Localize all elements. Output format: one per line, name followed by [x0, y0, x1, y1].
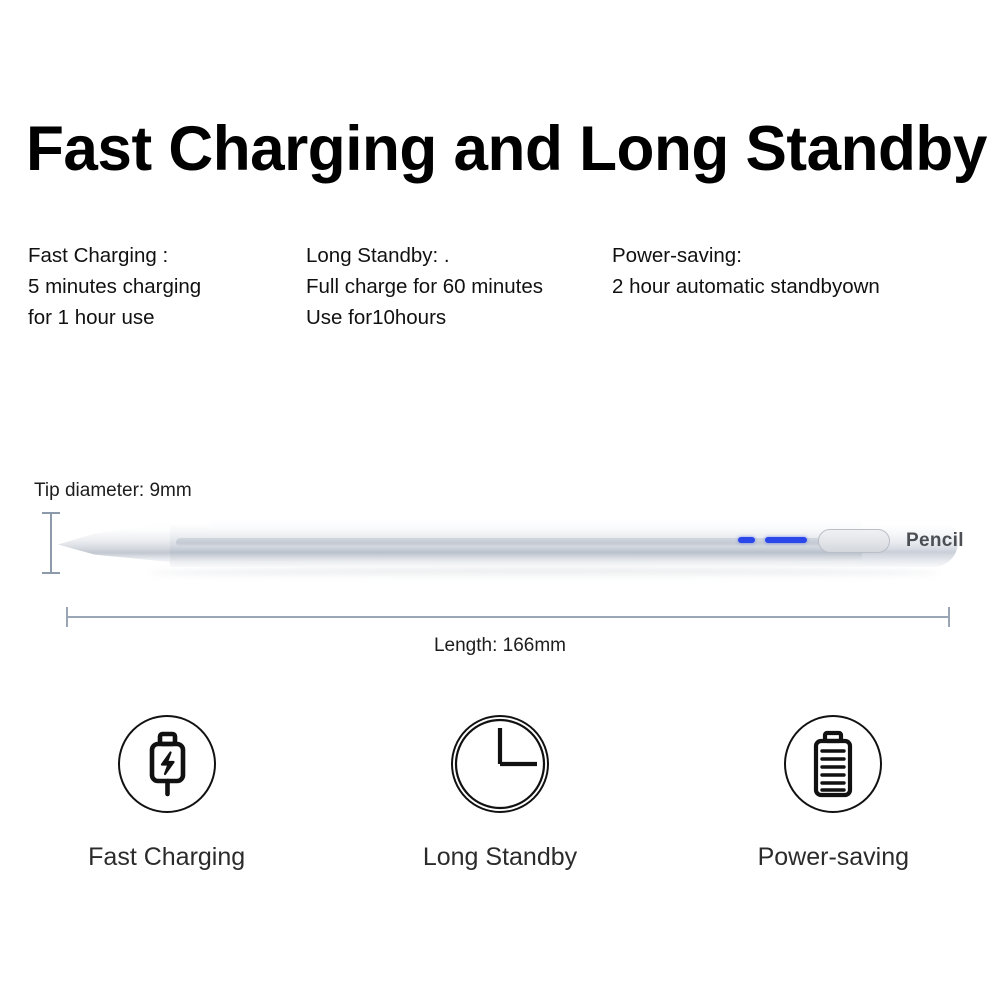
length-dimension-line [66, 605, 950, 629]
feature-long-standby: Long Standby [333, 715, 666, 872]
dimension-tick-right [948, 607, 950, 627]
feature-label: Long Standby [423, 843, 577, 872]
page-title: Fast Charging and Long Standby [26, 118, 972, 181]
feature-power-saving: Power-saving [667, 715, 1000, 872]
feature-label: Fast Charging [88, 843, 245, 872]
charging-plug-icon [136, 731, 198, 797]
icon-circle [784, 715, 882, 813]
caliper-bar [50, 512, 52, 574]
dimension-line [66, 616, 950, 618]
feature-label: Power-saving [758, 843, 909, 872]
length-label: Length: 166mm [0, 635, 1000, 657]
spec-heading: Fast Charging : [28, 240, 306, 271]
spec-heading: Long Standby: . [306, 240, 612, 271]
spec-column-power-saving: Power-saving: 2 hour automatic standbyow… [612, 240, 978, 302]
spec-heading: Power-saving: [612, 240, 978, 271]
feature-icon-row: Fast Charging Long Standby [0, 715, 1000, 872]
spec-column-fast-charging: Fast Charging : 5 minutes charging for 1… [28, 240, 306, 333]
stylus-pen: Pencil [58, 505, 958, 583]
icon-circle [451, 715, 549, 813]
led-indicator-large [765, 537, 807, 543]
stylus-illustration: Tip diameter: 9mm Pencil Length: 166mm [0, 460, 1000, 670]
spec-detail-line: Full charge for 60 minutes [306, 271, 612, 302]
pen-highlight-facet [208, 519, 898, 534]
icon-circle [118, 715, 216, 813]
spec-detail-line: Use for10hours [306, 302, 612, 333]
tip-diameter-label: Tip diameter: 9mm [34, 480, 192, 502]
pen-wordmark: Pencil [906, 530, 964, 552]
spec-detail-line: 2 hour automatic standbyown [612, 271, 978, 302]
pen-tip [58, 521, 180, 563]
spec-column-long-standby: Long Standby: . Full charge for 60 minut… [306, 240, 612, 333]
pen-button[interactable] [818, 529, 890, 553]
spec-detail-line: for 1 hour use [28, 302, 306, 333]
pen-shadow [148, 568, 938, 578]
feature-fast-charging: Fast Charging [0, 715, 333, 872]
battery-icon [805, 730, 861, 798]
led-indicator-small [738, 537, 755, 543]
clock-icon [453, 717, 547, 811]
spec-detail-line: 5 minutes charging [28, 271, 306, 302]
spec-columns: Fast Charging : 5 minutes charging for 1… [28, 240, 978, 333]
